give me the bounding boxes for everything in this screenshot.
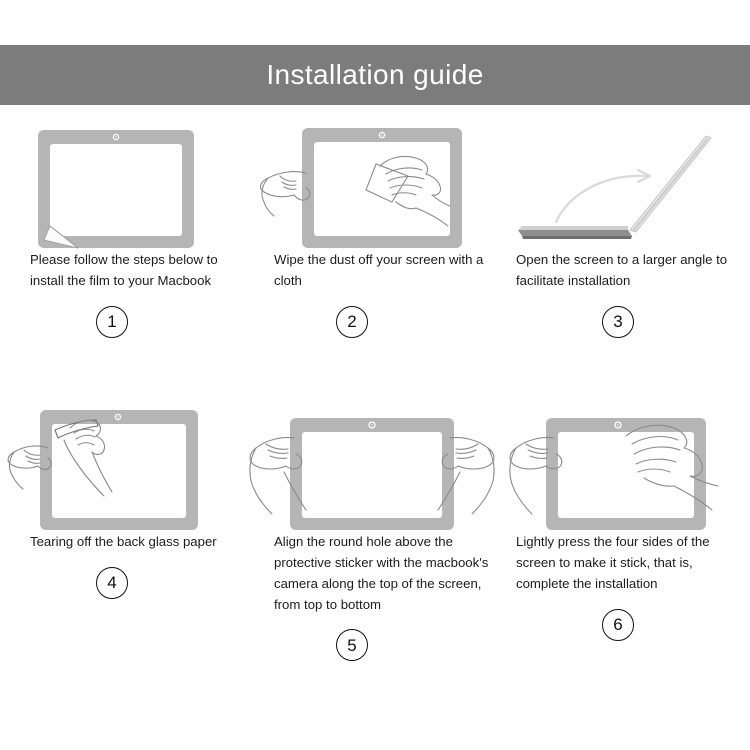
step-panel-6: Lightly press the four sides of the scre… — [498, 400, 750, 661]
step-illustration-1 — [0, 118, 246, 250]
step-badge-1: 1 — [96, 306, 128, 338]
step-panel-2: Wipe the dust off your screen with a clo… — [246, 118, 498, 338]
step-badge-wrap-6: 6 — [498, 609, 750, 641]
step-illustration-3 — [498, 118, 750, 250]
step-caption-5: Align the round hole above the protectiv… — [246, 532, 498, 615]
step-badge-wrap-2: 2 — [246, 306, 498, 338]
step-badge-3: 3 — [602, 306, 634, 338]
step-badge-4: 4 — [96, 567, 128, 599]
step-panel-3: Open the screen to a larger angle to fac… — [498, 118, 750, 338]
step-caption-4: Tearing off the back glass paper — [0, 532, 246, 553]
step-panel-1: Please follow the steps below to install… — [0, 118, 246, 338]
step-caption-3: Open the screen to a larger angle to fac… — [498, 250, 750, 292]
step-illustration-6 — [498, 400, 750, 532]
step-illustration-4 — [0, 400, 246, 532]
steps-row-top: Please follow the steps below to install… — [0, 118, 750, 338]
page-title: Installation guide — [266, 59, 483, 91]
step-badge-5: 5 — [336, 629, 368, 661]
step-panel-4: Tearing off the back glass paper 4 — [0, 400, 246, 661]
step-badge-wrap-1: 1 — [0, 306, 246, 338]
steps-row-bottom: Tearing off the back glass paper 4 — [0, 400, 750, 661]
installation-guide-page: { "header": { "title": "Installation gui… — [0, 0, 750, 750]
step-badge-6: 6 — [602, 609, 634, 641]
step-badge-2: 2 — [336, 306, 368, 338]
header-banner: Installation guide — [0, 45, 750, 105]
step-panel-5: Align the round hole above the protectiv… — [246, 400, 498, 661]
step-badge-wrap-3: 3 — [498, 306, 750, 338]
step-illustration-5 — [246, 400, 498, 532]
step-caption-6: Lightly press the four sides of the scre… — [498, 532, 750, 595]
step-badge-wrap-5: 5 — [246, 629, 498, 661]
step-caption-1: Please follow the steps below to install… — [0, 250, 246, 292]
step-badge-wrap-4: 4 — [0, 567, 246, 599]
step-illustration-2 — [246, 118, 498, 250]
step-caption-2: Wipe the dust off your screen with a clo… — [246, 250, 498, 292]
